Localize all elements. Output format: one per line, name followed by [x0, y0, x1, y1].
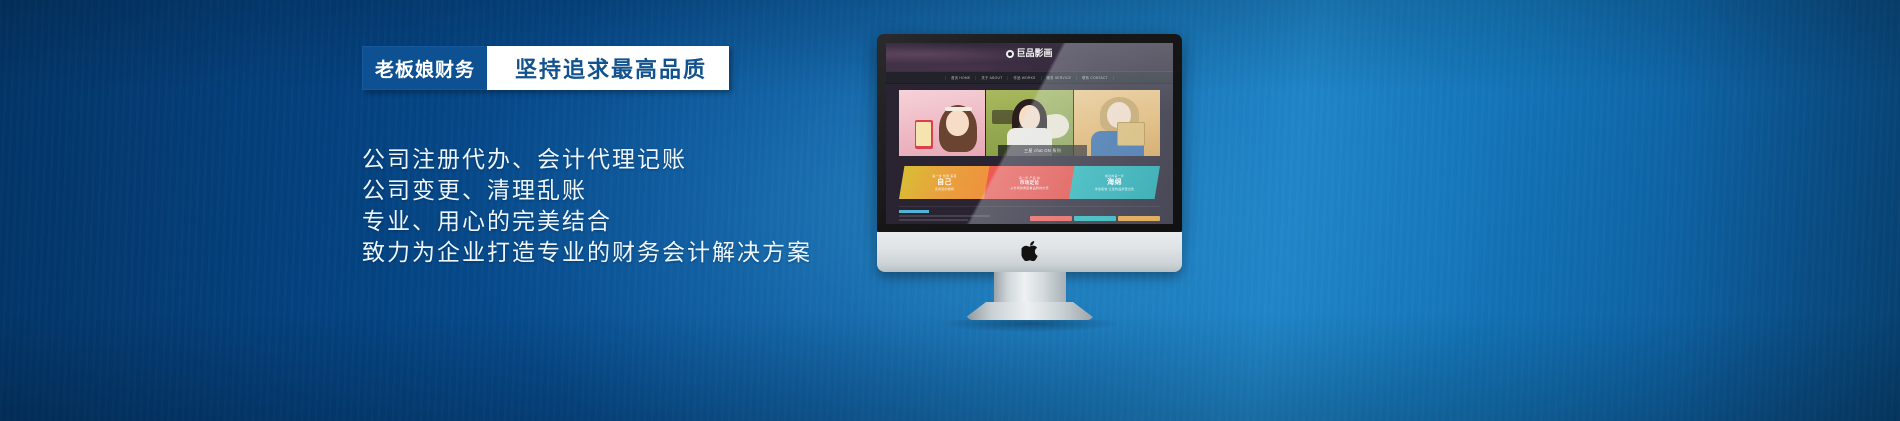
site-logo-text: 巨品影画: [1016, 49, 1052, 58]
footer-heading: [899, 210, 929, 213]
monitor-screen: 巨品影画 首页 HOME 关于 ABOUT 作品 WORKS 服务 SERVIC…: [886, 43, 1173, 224]
footer-line: [899, 215, 990, 217]
monitor-bezel: 巨品影画 首页 HOME 关于 ABOUT 作品 WORKS 服务 SERVIC…: [877, 34, 1182, 232]
site-nav: 首页 HOME 关于 ABOUT 作品 WORKS 服务 SERVICE 联系 …: [886, 71, 1173, 84]
footer-button-3[interactable]: [1118, 216, 1160, 221]
panel-bottom-text: 从市场的角度看品牌的价值: [1010, 186, 1048, 190]
model-face: [1019, 105, 1040, 130]
headline-bar: 老板娘财务 坚持追求最高品质: [362, 46, 729, 90]
slogan: 坚持追求最高品质: [487, 46, 729, 90]
model-face: [946, 110, 968, 136]
camera-shutter-icon: [1006, 50, 1014, 58]
monitor-shadow: [940, 320, 1120, 332]
panel-top-text: 成功的第一步: [1105, 174, 1124, 178]
footer-button-2[interactable]: [1074, 216, 1116, 221]
brand-name: 老板娘财务: [362, 46, 487, 90]
apple-icon: [1021, 241, 1038, 261]
site-nav-item-about[interactable]: 关于 ABOUT: [976, 76, 1008, 80]
promo-banner: 老板娘财务 坚持追求最高品质 公司注册代办、会计代理记账 公司变更、清理乱账 专…: [0, 0, 1900, 421]
model-headband: [945, 107, 972, 112]
product-box: [1117, 122, 1145, 146]
panel-top-text: 第一步 创意 来自: [932, 174, 956, 178]
footer-button-1[interactable]: [1030, 216, 1072, 221]
site-footer: [899, 206, 1160, 224]
site-header: 巨品影画: [886, 43, 1173, 71]
site-nav-item-service[interactable]: 服务 SERVICE: [1042, 76, 1078, 80]
site-nav-item-contact[interactable]: 联系 CONTACT: [1077, 76, 1114, 80]
footer-line: [899, 219, 968, 221]
monitor-stand-neck: [994, 272, 1066, 306]
hero-caption: 三星 chat ON 系列: [998, 145, 1087, 156]
monitor-stand-base: [966, 302, 1094, 320]
panel-headline: 海绵: [1107, 178, 1122, 187]
panel-bottom-text: 善用您的独特: [935, 187, 954, 191]
panel-top-text: 第二步 产品 的: [1019, 176, 1040, 180]
panel-product[interactable]: 第二步 产品 的 市场定位 从市场的角度看品牌的价值: [984, 166, 1075, 199]
imac-monitor: 巨品影画 首页 HOME 关于 ABOUT 作品 WORKS 服务 SERVIC…: [877, 34, 1182, 304]
site-logo: 巨品影画: [886, 49, 1173, 58]
panel-bottom-text: 学会吸收 让您的品牌更出色: [1095, 187, 1134, 191]
hero-image-1: [899, 90, 985, 156]
phone-screen: [916, 122, 931, 146]
site-hero-gallery: 三星 chat ON 系列: [899, 90, 1160, 156]
overlay-graphic: [992, 110, 1014, 125]
site-nav-item-home[interactable]: 首页 HOME: [945, 76, 976, 80]
panel-creative[interactable]: 第一步 创意 来自 自己 善用您的独特: [899, 166, 990, 199]
panel-sponge[interactable]: 成功的第一步 海绵 学会吸收 让您的品牌更出色: [1069, 166, 1160, 199]
site-feature-panels: 第一步 创意 来自 自己 善用您的独特 第二步 产品 的 市场定位 从市场的角度…: [899, 166, 1160, 199]
footer-buttons: [1030, 210, 1161, 224]
footer-text-block: [899, 210, 998, 224]
site-nav-item-works[interactable]: 作品 WORKS: [1008, 76, 1041, 80]
panel-headline: 自己: [937, 178, 952, 187]
website-preview: 巨品影画 首页 HOME 关于 ABOUT 作品 WORKS 服务 SERVIC…: [886, 43, 1173, 224]
monitor-chin: [877, 232, 1182, 272]
